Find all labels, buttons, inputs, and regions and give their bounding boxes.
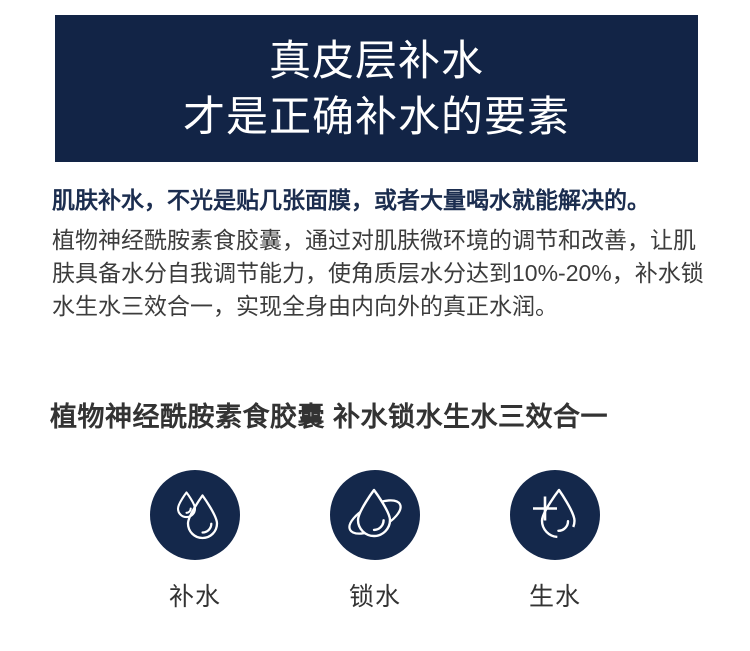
water-drop-orbit-ring-icon [343, 483, 407, 547]
feature-icon-circle [150, 470, 240, 560]
section-heading: 植物神经酰胺素食胶囊 补水锁水生水三效合一 [50, 398, 715, 436]
feature-label: 补水 [169, 582, 221, 612]
hero-title-line-2: 才是正确补水的要素 [183, 89, 570, 145]
feature-item-generate-water: 生水 [490, 470, 620, 612]
water-drop-plus-icon [524, 484, 586, 546]
hero-title-line-1: 真皮层补水 [269, 33, 484, 89]
feature-item-hydrate: 补水 [130, 470, 260, 612]
feature-label: 锁水 [349, 582, 401, 612]
feature-row: 补水 锁水 生水 [130, 470, 620, 612]
hero-banner: 真皮层补水 才是正确补水的要素 [55, 15, 698, 162]
two-water-drops-icon [164, 484, 226, 546]
copy-block: 肌肤补水，不光是贴几张面膜，或者大量喝水就能解决的。 植物神经酰胺素食胶囊，通过… [52, 184, 714, 323]
feature-icon-circle [510, 470, 600, 560]
feature-label: 生水 [529, 582, 581, 612]
feature-icon-circle [330, 470, 420, 560]
body-paragraph: 植物神经酰胺素食胶囊，通过对肌肤微环境的调节和改善，让肌肤具备水分自我调节能力，… [52, 224, 714, 323]
feature-item-lock-moisture: 锁水 [310, 470, 440, 612]
lead-statement: 肌肤补水，不光是贴几张面膜，或者大量喝水就能解决的。 [52, 184, 714, 216]
